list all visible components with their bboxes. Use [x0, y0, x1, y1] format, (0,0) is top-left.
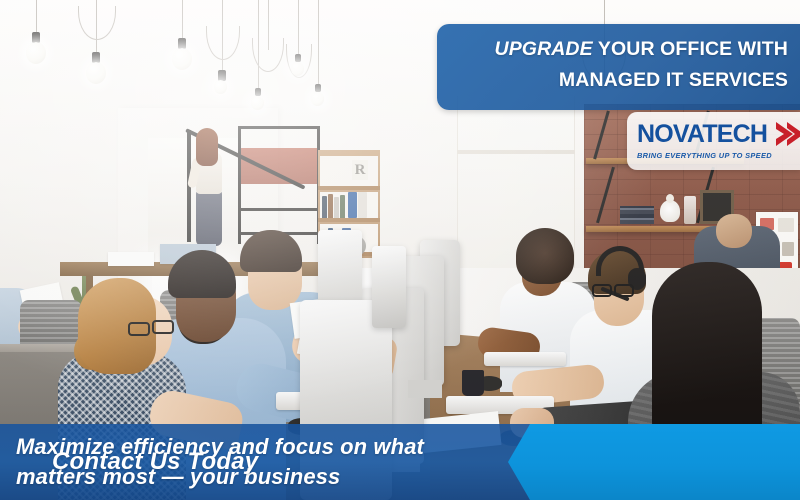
contact-us-cta-button[interactable]: [508, 424, 800, 500]
chevron-right-icon: [771, 119, 800, 149]
binder: [348, 192, 357, 218]
lamp-socket: [255, 88, 261, 96]
book: [340, 195, 345, 218]
stair-step: [238, 208, 320, 211]
doorway-lintel: [457, 150, 575, 154]
headline-banner: UPGRADE YOUR OFFICE WITH MANAGED IT SERV…: [437, 24, 800, 110]
logo-row: NOVATECH: [637, 119, 794, 149]
lamp-cord: [182, 0, 183, 42]
pendant-bulb-icon: [291, 62, 304, 76]
colleague-background-right-head: [716, 214, 752, 248]
mezzanine-panel: [241, 148, 317, 184]
headline-line-1-rest: YOUR OFFICE WITH: [593, 38, 788, 60]
lamp-cord: [36, 0, 37, 36]
novatech-logo-panel[interactable]: NOVATECH BRING EVERYTHING UP TO SPEED: [627, 112, 800, 170]
book: [328, 194, 333, 218]
lamp-socket: [315, 84, 321, 92]
woman-on-staircase-legs: [196, 190, 222, 246]
binder: [358, 192, 367, 218]
eyeglasses-icon: [592, 284, 612, 297]
keyboard: [484, 352, 566, 366]
bird-figurine: [660, 200, 680, 222]
pendant-bulb-icon: [26, 42, 46, 64]
monitor-stand: [408, 380, 442, 398]
shelf-letter-decor: R: [352, 160, 368, 180]
eyeglasses-icon: [614, 284, 634, 297]
logo-tagline: BRING EVERYTHING UP TO SPEED: [637, 151, 794, 160]
book: [322, 196, 327, 218]
mezzanine-frame: [238, 126, 320, 244]
lamp-socket: [295, 54, 301, 62]
headline-emphasis: UPGRADE: [495, 38, 593, 60]
pendant-bulb-icon: [251, 96, 264, 110]
bookshelf-board: [318, 218, 380, 222]
contact-us-cta-label[interactable]: Contact Us Today: [52, 444, 292, 480]
sticky-note: [778, 218, 794, 232]
lamp-cord: [318, 0, 319, 88]
pendant-bulb-icon: [214, 80, 227, 94]
eyeglasses-icon: [128, 322, 150, 336]
bookshelf-board: [318, 186, 380, 190]
woman-on-staircase-hair: [196, 128, 218, 166]
shelf-books: [620, 206, 654, 224]
pendant-bulb-icon: [172, 48, 192, 70]
monitor: [372, 246, 406, 328]
headline-line-2: MANAGED IT SERVICES: [437, 65, 788, 96]
photo-pinned: [782, 242, 794, 256]
pendant-bulb-icon: [86, 62, 106, 84]
advertisement-banner: R: [0, 0, 800, 500]
headline-line-1: UPGRADE YOUR OFFICE WITH: [437, 34, 788, 65]
logo-wordmark: NOVATECH: [637, 121, 767, 147]
bottom-bar: Maximize efficiency and focus on what ma…: [0, 424, 800, 500]
book: [334, 197, 339, 218]
glass-jar: [684, 196, 696, 224]
eyeglasses-icon: [152, 320, 174, 334]
bookshelf-shelf: [320, 156, 378, 186]
pendant-bulb-icon: [311, 92, 324, 106]
coffee-mug: [462, 370, 484, 396]
paper-stack: [108, 252, 154, 266]
woman-curly-hair: [516, 228, 574, 284]
